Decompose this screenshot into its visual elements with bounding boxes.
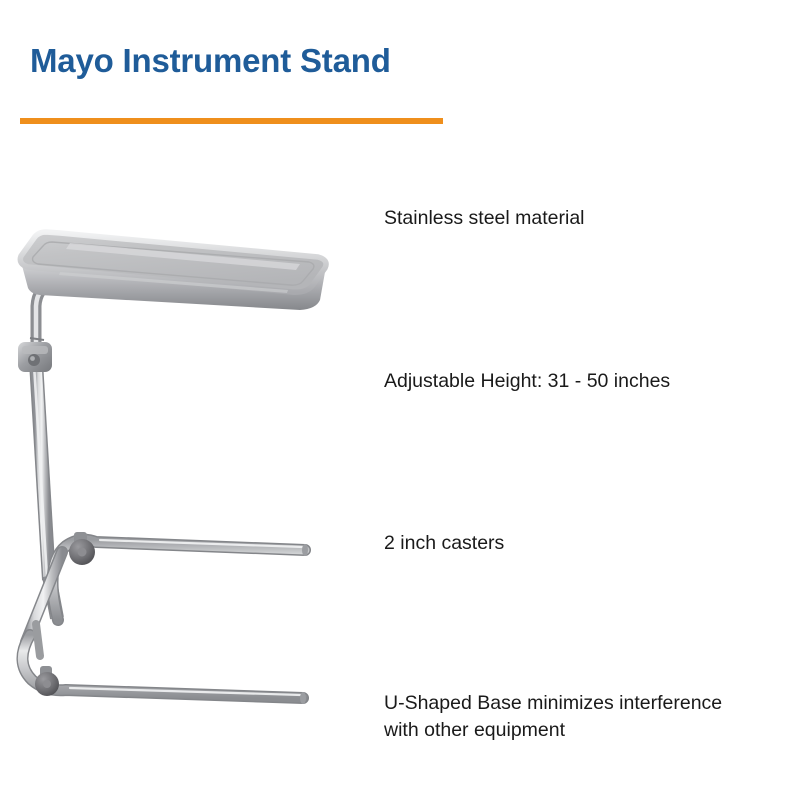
feature-text-base: U-Shaped Base minimizes interference wit… [384, 690, 722, 744]
feature-text-height: Adjustable Height: 31 - 50 inches [384, 368, 670, 395]
product-image [0, 180, 370, 740]
leg-lower-end-cap [300, 692, 306, 704]
caster-lower [35, 666, 59, 696]
height-clamp-knob [18, 342, 52, 372]
lower-post-face [35, 345, 49, 580]
base-bend-connector [36, 624, 40, 656]
page-title: Mayo Instrument Stand [30, 42, 391, 80]
mayo-stand-illustration [0, 180, 370, 740]
feature-text-casters: 2 inch casters [384, 530, 504, 557]
feature-text-material: Stainless steel material [384, 205, 585, 232]
title-divider-rule [20, 118, 443, 124]
infographic-page: Mayo Instrument Stand [0, 0, 800, 800]
leg-upper-end-cap [302, 544, 308, 556]
